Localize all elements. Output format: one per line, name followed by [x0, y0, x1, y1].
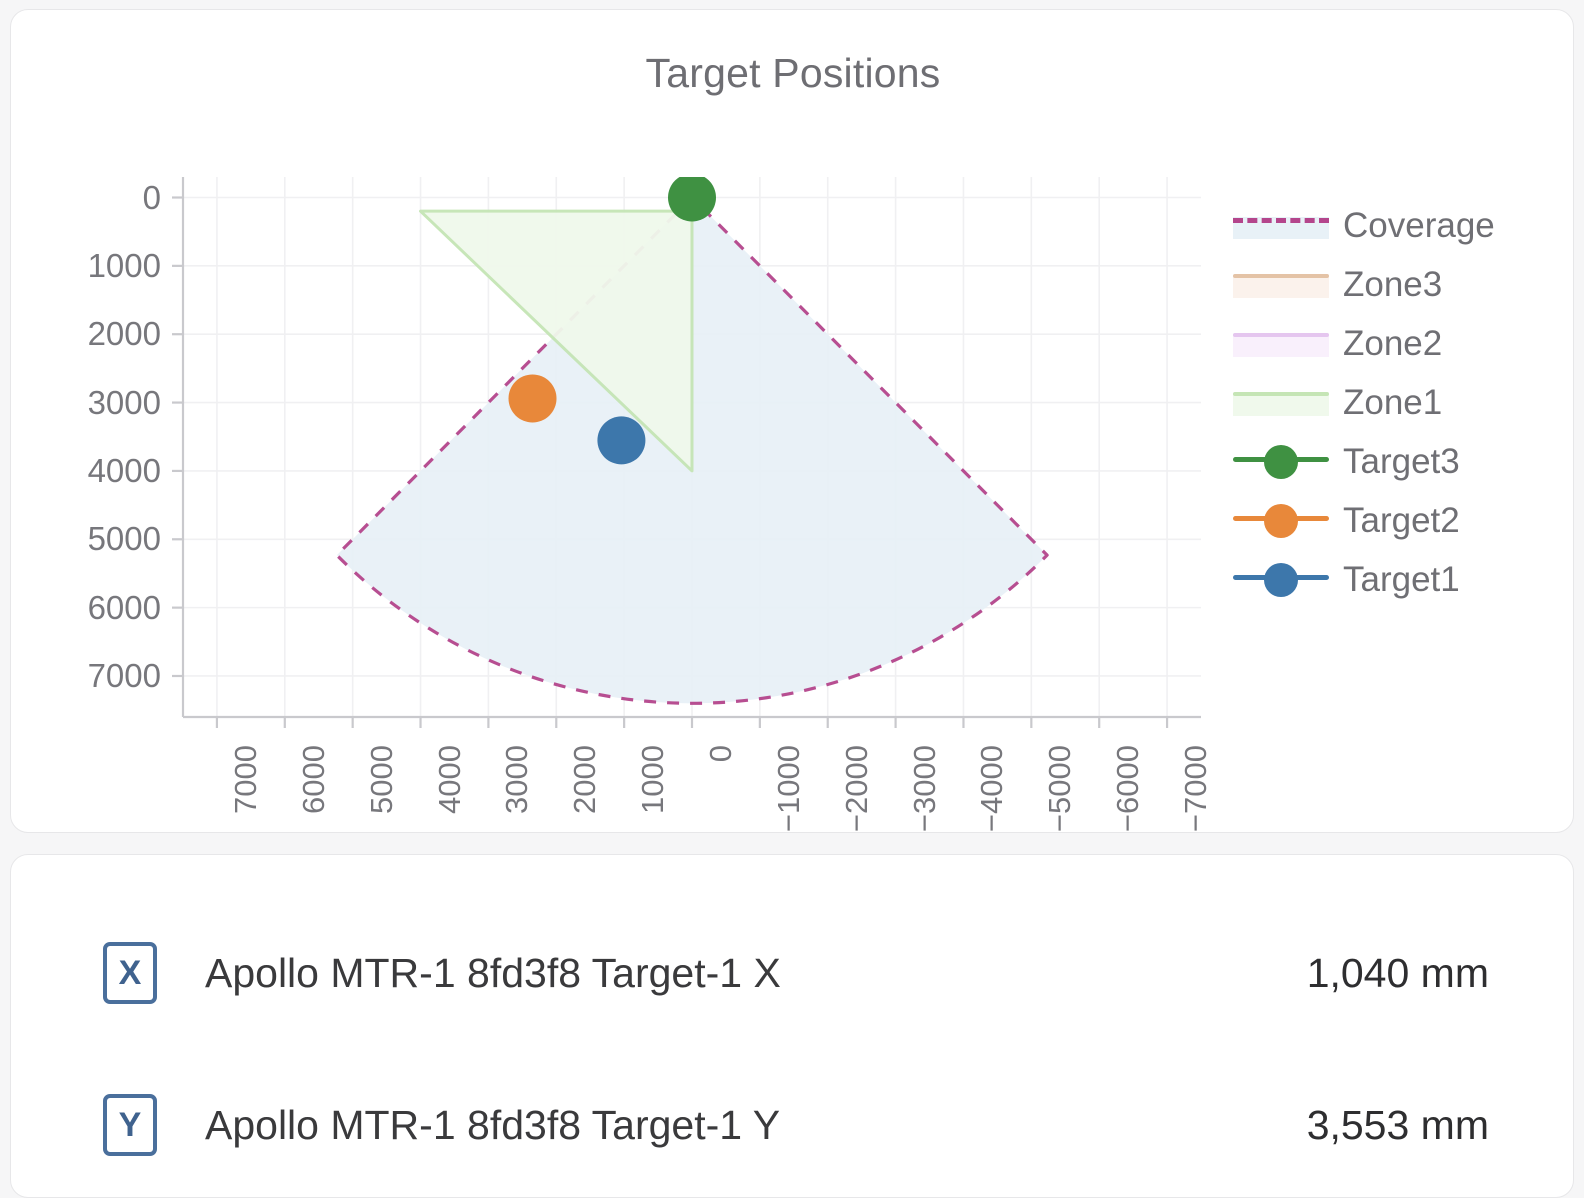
- y-axis-tick-label: 5000: [11, 520, 161, 558]
- legend-swatch-icon: [1233, 386, 1329, 420]
- y-axis-tick-label: 2000: [11, 315, 161, 353]
- legend-swatch-icon: [1233, 504, 1329, 538]
- x-axis-tick-label: −5000: [1042, 745, 1078, 832]
- x-axis-tick-label: 5000: [364, 745, 400, 814]
- x-axis-tick-label: −3000: [907, 745, 943, 832]
- data-point-target2: [509, 374, 557, 422]
- legend-item-label: Zone1: [1343, 385, 1442, 420]
- chart-legend: CoverageZone3Zone2Zone1Target3Target2Tar…: [1233, 196, 1563, 609]
- x-axis-tick-label: −1000: [771, 745, 807, 832]
- legend-item-label: Target1: [1343, 562, 1460, 597]
- legend-swatch-icon: [1233, 268, 1329, 302]
- app-root: Target Positions: [0, 0, 1584, 1198]
- readout-value-y: 3,553 mm: [1307, 1102, 1489, 1149]
- readout-row-x[interactable]: X Apollo MTR-1 8fd3f8 Target-1 X 1,040 m…: [11, 943, 1574, 1003]
- legend-item-target2[interactable]: Target2: [1233, 491, 1563, 550]
- legend-item-zone3[interactable]: Zone3: [1233, 255, 1563, 314]
- x-axis-tick-label: −7000: [1178, 745, 1214, 832]
- readout-card: X Apollo MTR-1 8fd3f8 Target-1 X 1,040 m…: [10, 854, 1574, 1198]
- legend-swatch-icon: [1233, 563, 1329, 597]
- readout-row-y[interactable]: Y Apollo MTR-1 8fd3f8 Target-1 Y 3,553 m…: [11, 1095, 1574, 1155]
- axis-x-badge-icon: X: [103, 942, 157, 1004]
- legend-item-label: Coverage: [1343, 208, 1495, 243]
- data-point-target3: [668, 174, 716, 222]
- y-axis-tick-label: 7000: [11, 657, 161, 695]
- legend-item-coverage[interactable]: Coverage: [1233, 196, 1563, 255]
- x-axis-tick-label: 2000: [567, 745, 603, 814]
- y-axis-tick-label: 4000: [11, 452, 161, 490]
- readout-label-x: Apollo MTR-1 8fd3f8 Target-1 X: [205, 950, 781, 997]
- axis-y-badge-icon: Y: [103, 1094, 157, 1156]
- x-axis-tick-label: −4000: [974, 745, 1010, 832]
- y-axis-tick-label: 1000: [11, 247, 161, 285]
- legend-item-target3[interactable]: Target3: [1233, 432, 1563, 491]
- x-axis-tick-label: 1000: [635, 745, 671, 814]
- x-axis-tick-label: 6000: [296, 745, 332, 814]
- x-axis-tick-label: 4000: [432, 745, 468, 814]
- legend-item-label: Zone3: [1343, 267, 1442, 302]
- legend-item-zone1[interactable]: Zone1: [1233, 373, 1563, 432]
- y-axis-tick-label: 0: [11, 179, 161, 217]
- legend-swatch-icon: [1233, 445, 1329, 479]
- legend-item-label: Target3: [1343, 444, 1460, 479]
- legend-item-label: Zone2: [1343, 326, 1442, 361]
- y-axis-tick-label: 3000: [11, 384, 161, 422]
- x-axis-tick-label: 0: [703, 745, 739, 762]
- readout-value-x: 1,040 mm: [1307, 950, 1489, 997]
- chart-card: Target Positions: [10, 9, 1574, 833]
- legend-swatch-icon: [1233, 209, 1329, 243]
- legend-item-target1[interactable]: Target1: [1233, 550, 1563, 609]
- x-axis-tick-label: 7000: [228, 745, 264, 814]
- legend-item-zone2[interactable]: Zone2: [1233, 314, 1563, 373]
- x-axis-tick-label: −6000: [1110, 745, 1146, 832]
- x-axis-tick-label: 3000: [499, 745, 535, 814]
- legend-item-label: Target2: [1343, 503, 1460, 538]
- legend-swatch-icon: [1233, 327, 1329, 361]
- x-axis-tick-label: −2000: [839, 745, 875, 832]
- data-point-target1: [597, 416, 645, 464]
- readout-label-y: Apollo MTR-1 8fd3f8 Target-1 Y: [205, 1102, 780, 1149]
- y-axis-tick-label: 6000: [11, 589, 161, 627]
